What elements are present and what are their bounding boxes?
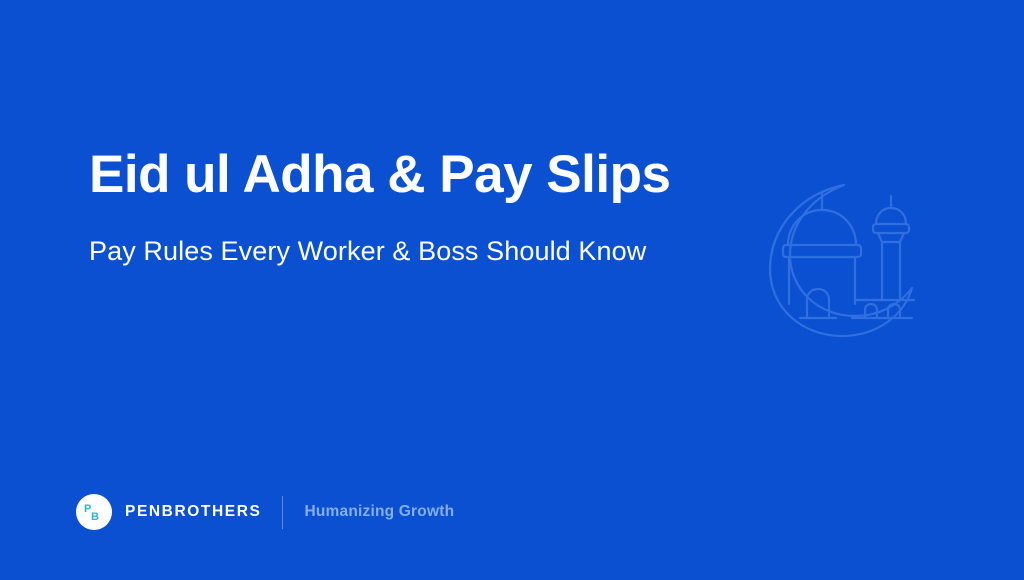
brand-wordmark: PENBROTHERS xyxy=(125,503,261,521)
page-title: Eid ul Adha & Pay Slips xyxy=(89,140,709,210)
brand-tagline: Humanizing Growth xyxy=(304,503,454,521)
hero-text-block: Eid ul Adha & Pay Slips Pay Rules Every … xyxy=(89,140,709,275)
crescent-moon-mosque-svg xyxy=(752,172,928,344)
lockup-divider xyxy=(282,496,283,529)
crescent-moon-mosque-icon xyxy=(752,172,928,344)
slide-canvas: Eid ul Adha & Pay Slips Pay Rules Every … xyxy=(0,0,1024,580)
pb-monogram-icon: P B xyxy=(82,500,106,524)
brand-lockup: P B PENBROTHERS Humanizing Growth xyxy=(76,492,454,532)
page-subtitle: Pay Rules Every Worker & Boss Should Kno… xyxy=(89,210,709,275)
penbrothers-logo-icon: P B xyxy=(76,494,112,530)
monogram-letter-b: B xyxy=(91,511,99,523)
